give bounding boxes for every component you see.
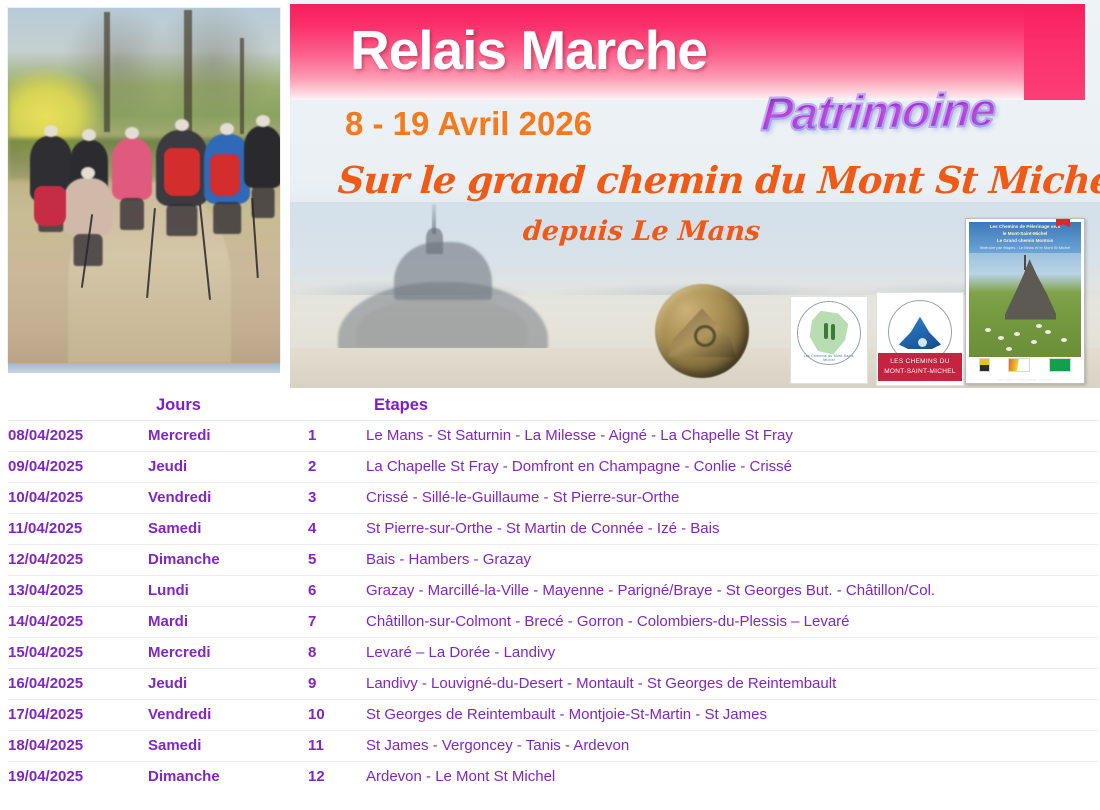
village-mass <box>356 300 528 346</box>
cell-day: Mercredi <box>148 421 308 452</box>
red-backpack <box>210 154 240 196</box>
table-row: 18/04/2025 Samedi 11 St James - Vergonce… <box>8 731 1098 762</box>
pilgrim-figure <box>824 323 828 339</box>
abbey-mass <box>394 242 492 300</box>
table-row: 15/04/2025 Mercredi 8 Levaré – La Dorée … <box>8 638 1098 669</box>
cell-etape: Ardevon - Le Mont St Michel <box>366 762 1098 793</box>
book-title-line1: Les Chemins de Pèlerinage vers <box>971 224 1079 231</box>
cell-day: Mardi <box>148 607 308 638</box>
guide-book-cover: Les Chemins de Pèlerinage vers le Mont-S… <box>965 218 1085 384</box>
cell-etape: St Georges de Reintembault - Montjoie-St… <box>366 700 1098 731</box>
red-backpack <box>164 148 200 196</box>
photo-bottom-strip <box>8 363 280 373</box>
tree-crown <box>148 8 278 122</box>
red-backpack <box>34 186 66 226</box>
table-row: 16/04/2025 Jeudi 9 Landivy - Louvigné-du… <box>8 669 1098 700</box>
book-title-line2: le Mont-Saint-Michel <box>971 231 1079 238</box>
pilgrim-figure <box>831 324 835 340</box>
schedule-table: Jours Etapes 08/04/2025 Mercredi 1 Le Ma… <box>8 392 1098 792</box>
book-mount-spire <box>1024 255 1026 270</box>
cell-etape: La Chapelle St Fray - Domfront en Champa… <box>366 452 1098 483</box>
sheep-icon <box>1031 340 1037 344</box>
walker-figure <box>64 178 112 236</box>
book-title-line3: Le Grand chemin Montois <box>971 238 1079 245</box>
cell-num: 5 <box>308 545 366 576</box>
chemins-band-line2: MONT-SAINT-MICHEL <box>878 367 962 377</box>
cell-num: 2 <box>308 452 366 483</box>
abbey-spire <box>432 204 436 234</box>
table-row: 12/04/2025 Dimanche 5 Bais - Hambers - G… <box>8 545 1098 576</box>
table-row: 17/04/2025 Vendredi 10 St Georges de Rei… <box>8 700 1098 731</box>
sheep-icon <box>1061 338 1067 342</box>
table-row: 10/04/2025 Vendredi 3 Crissé - Sillé-le-… <box>8 483 1098 514</box>
cell-etape: Grazay - Marcillé-la-Ville - Mayenne - P… <box>366 576 1098 607</box>
table-row: 13/04/2025 Lundi 6 Grazay - Marcillé-la-… <box>8 576 1098 607</box>
cell-date: 13/04/2025 <box>8 576 148 607</box>
cell-etape: St Pierre-sur-Orthe - St Martin de Conné… <box>366 514 1098 545</box>
cell-day: Samedi <box>148 514 308 545</box>
table-row: 09/04/2025 Jeudi 2 La Chapelle St Fray -… <box>8 452 1098 483</box>
cell-num: 8 <box>308 638 366 669</box>
cell-num: 7 <box>308 607 366 638</box>
cell-etape: Levaré – La Dorée - Landivy <box>366 638 1098 669</box>
cell-date: 12/04/2025 <box>8 545 148 576</box>
table-header-row: Jours Etapes <box>8 392 1098 421</box>
mount-dot <box>918 338 927 347</box>
sheep-icon <box>985 328 991 332</box>
mont-saint-michel-silhouette <box>338 209 548 354</box>
sheep-icon <box>1014 332 1020 336</box>
column-header-jours: Jours <box>148 392 308 421</box>
cell-day: Vendredi <box>148 483 308 514</box>
table-row: 19/04/2025 Dimanche 12 Ardevon - Le Mont… <box>8 762 1098 793</box>
sheep-icon <box>1036 324 1042 328</box>
table-row: 08/04/2025 Mercredi 1 Le Mans - St Satur… <box>8 421 1098 452</box>
column-header-date <box>8 392 148 421</box>
poster-subtitle-secondary: depuis Le Mans <box>522 216 761 247</box>
cell-date: 10/04/2025 <box>8 483 148 514</box>
tree-trunk <box>104 12 110 132</box>
cell-day: Lundi <box>148 576 308 607</box>
walker-figure <box>244 126 280 188</box>
cell-num: 6 <box>308 576 366 607</box>
region-logo-card: Les Chemins du Mont-Saint-Michel <box>790 296 868 384</box>
tree-trunk <box>240 38 244 134</box>
cell-date: 16/04/2025 <box>8 669 148 700</box>
region-logo-caption: Les Chemins du Mont-Saint-Michel <box>798 354 860 362</box>
cell-num: 4 <box>308 514 366 545</box>
pink-banner-tail <box>1024 4 1085 100</box>
cell-day: Mercredi <box>148 638 308 669</box>
cell-day: Dimanche <box>148 762 308 793</box>
partner-logo-icon <box>1049 358 1071 372</box>
book-title-line4: Itinéraire par étapes : Le Mans et le Mo… <box>971 245 1079 251</box>
column-header-num <box>308 392 366 421</box>
cell-day: Vendredi <box>148 700 308 731</box>
cell-date: 15/04/2025 <box>8 638 148 669</box>
poster-subtitle: Sur le grand chemin du Mont St Michel <box>336 158 1100 202</box>
cell-num: 11 <box>308 731 366 762</box>
cell-etape: Landivy - Louvigné-du-Desert - Montault … <box>366 669 1098 700</box>
table-row: 11/04/2025 Samedi 4 St Pierre-sur-Orthe … <box>8 514 1098 545</box>
cell-day: Samedi <box>148 731 308 762</box>
poster-header: Relais Marche Patrimoine 8 - 19 Avril 20… <box>0 0 1100 388</box>
walker-figure <box>112 138 152 200</box>
cell-num: 3 <box>308 483 366 514</box>
cell-num: 9 <box>308 669 366 700</box>
cell-etape: Crissé - Sillé-le-Guillaume - St Pierre-… <box>366 483 1098 514</box>
book-mount-silhouette <box>1005 259 1057 319</box>
walkers-photo <box>8 8 280 363</box>
cell-num: 12 <box>308 762 366 793</box>
cell-etape: Châtillon-sur-Colmont - Brecé - Gorron -… <box>366 607 1098 638</box>
book-partner-logos <box>970 358 1080 371</box>
poster-title: Relais Marche <box>350 18 707 82</box>
cell-date: 11/04/2025 <box>8 514 148 545</box>
cell-etape: Le Mans - St Saturnin - La Milesse - Aig… <box>366 421 1098 452</box>
cell-date: 09/04/2025 <box>8 452 148 483</box>
sheep-icon <box>1006 347 1012 351</box>
book-cover-photo <box>969 253 1081 357</box>
cell-day: Dimanche <box>148 545 308 576</box>
cell-date: 17/04/2025 <box>8 700 148 731</box>
map-outline-shape <box>808 311 850 356</box>
schedule-table-body: 08/04/2025 Mercredi 1 Le Mans - St Satur… <box>8 421 1098 793</box>
event-dates: 8 - 19 Avril 2026 <box>345 105 592 143</box>
medal-ring <box>694 325 716 347</box>
cell-num: 10 <box>308 700 366 731</box>
bronze-medal-icon <box>655 284 749 378</box>
cell-num: 1 <box>308 421 366 452</box>
column-header-etapes: Etapes <box>366 392 1098 421</box>
chemins-logo-band: LES CHEMINS DU MONT-SAINT-MICHEL <box>878 353 962 381</box>
region-logo-icon: Les Chemins du Mont-Saint-Michel <box>797 301 861 365</box>
schedule-section: Jours Etapes 08/04/2025 Mercredi 1 Le Ma… <box>0 392 1100 792</box>
sheep-icon <box>998 336 1004 340</box>
partner-logo-icon <box>979 358 990 372</box>
chemins-band-line1: LES CHEMINS DU <box>878 357 962 367</box>
table-row: 14/04/2025 Mardi 7 Châtillon-sur-Colmont… <box>8 607 1098 638</box>
cell-day: Jeudi <box>148 452 308 483</box>
partner-logo-icon <box>1008 358 1030 372</box>
cell-etape: St James - Vergoncey - Tanis - Ardevon <box>366 731 1098 762</box>
cell-date: 14/04/2025 <box>8 607 148 638</box>
book-publisher: Les Éditions du pèlerin Sarthois <box>966 377 1084 382</box>
patrimoine-wordart: Patrimoine <box>759 82 997 142</box>
chemins-logo-card: LES CHEMINS DU MONT-SAINT-MICHEL <box>876 292 964 386</box>
book-title-block: Les Chemins de Pèlerinage vers le Mont-S… <box>971 224 1079 251</box>
cell-day: Jeudi <box>148 669 308 700</box>
cell-date: 08/04/2025 <box>8 421 148 452</box>
cell-date: 18/04/2025 <box>8 731 148 762</box>
sheep-icon <box>1045 330 1051 334</box>
cell-date: 19/04/2025 <box>8 762 148 793</box>
cell-etape: Bais - Hambers - Grazay <box>366 545 1098 576</box>
